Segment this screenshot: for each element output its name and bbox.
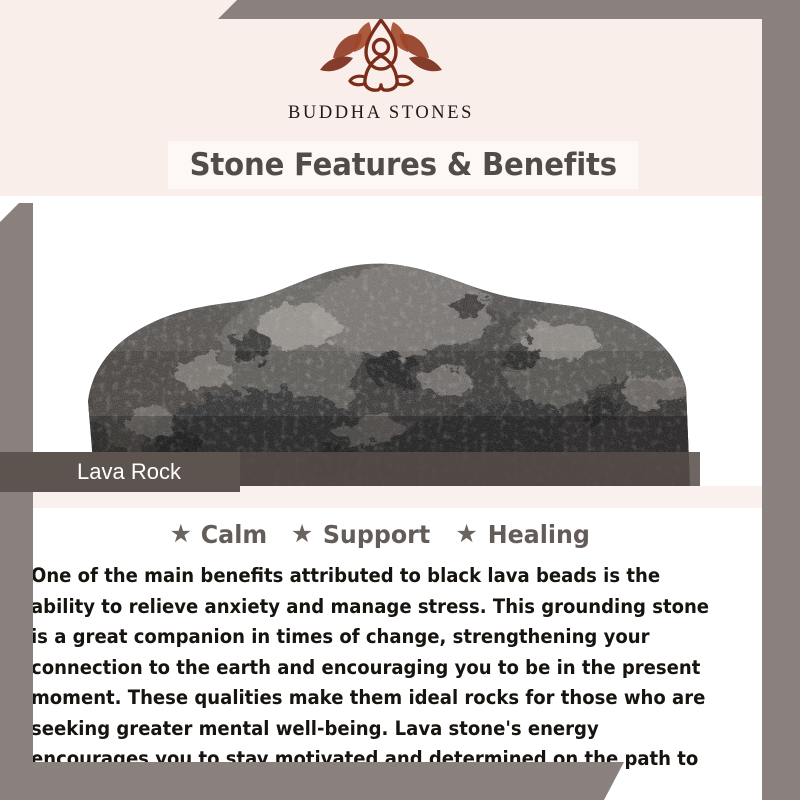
- benefit-item-calm: ★ Calm: [170, 520, 269, 549]
- brand-logo: BUDDHA STONES: [0, 14, 762, 124]
- frame-bar-right: [762, 0, 800, 800]
- benefit-label: Calm: [201, 520, 267, 549]
- photo-caption: Lava Rock: [77, 459, 181, 485]
- stone-features-poster: BUDDHA STONES Stone Features & Benefits: [0, 0, 800, 800]
- star-icon: ★: [455, 522, 477, 547]
- star-icon: ★: [170, 522, 192, 547]
- star-icon: ★: [291, 522, 313, 547]
- frame-bar-bottom: [0, 762, 624, 800]
- title-panel: Stone Features & Benefits: [168, 141, 638, 189]
- brand-name: BUDDHA STONES: [288, 103, 474, 124]
- frame-bar-left: [0, 203, 33, 800]
- benefit-item-healing: ★ Healing: [455, 520, 592, 549]
- benefit-item-support: ★ Support: [291, 520, 433, 549]
- lotus-meditation-figure-logo-icon: [306, 14, 456, 100]
- benefit-label: Support: [323, 520, 430, 549]
- body-section: ★ Calm ★ Support ★ Healing One of the ma…: [0, 508, 762, 762]
- poster-canvas: BUDDHA STONES Stone Features & Benefits: [0, 0, 800, 800]
- benefit-label: Healing: [487, 520, 589, 549]
- frame-bar-top: [218, 0, 800, 19]
- lava-rock-photo: [0, 196, 762, 486]
- lava-rock-image: [0, 196, 762, 486]
- benefits-row: ★ Calm ★ Support ★ Healing: [0, 520, 762, 549]
- page-title: Stone Features & Benefits: [189, 147, 616, 183]
- caption-bar: Lava Rock: [0, 452, 240, 492]
